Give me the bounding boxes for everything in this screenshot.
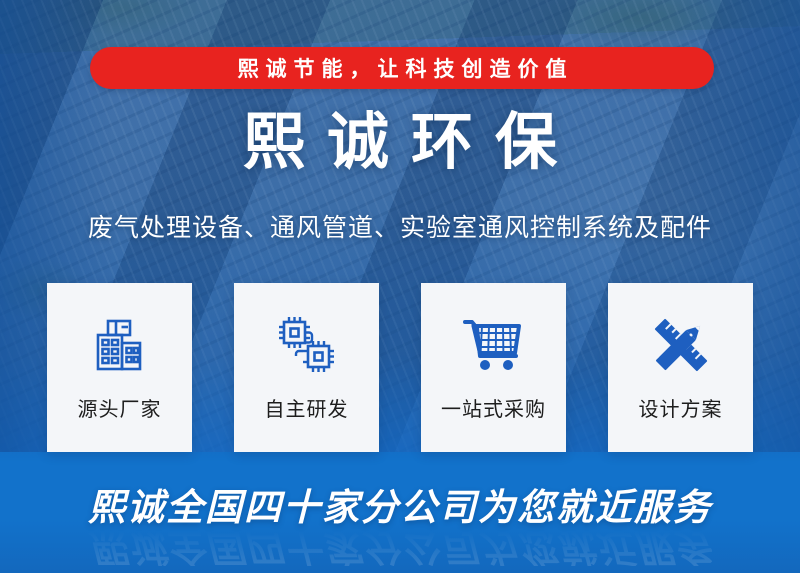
factory-building-icon	[88, 309, 152, 381]
feature-card-label: 一站式采购	[441, 393, 546, 422]
top-slogan-pill: 熙诚节能，让科技创造价值	[90, 47, 714, 89]
feature-card-label: 自主研发	[265, 393, 349, 422]
feature-card-one-stop-purchase[interactable]: 一站式采购	[421, 283, 566, 452]
feature-card-source-factory[interactable]: 源头厂家	[47, 283, 192, 452]
feature-card-design-plan[interactable]: 设计方案	[608, 283, 753, 452]
feature-card-label: 设计方案	[639, 393, 723, 422]
feature-card-label: 源头厂家	[78, 393, 162, 422]
page-title: 熙诚环保	[0, 112, 800, 174]
bottom-slogan-text: 熙诚全国四十家分公司为您就近服务	[88, 489, 712, 526]
feature-card-list: 源头厂家	[47, 283, 753, 452]
bottom-slogan-reflection: 熙诚全国四十家分公司为您就近服务	[88, 529, 712, 566]
bottom-slogan-block: 熙诚全国四十家分公司为您就近服务 熙诚全国四十家分公司为您就近服务	[0, 489, 800, 566]
ruler-pencil-icon	[648, 309, 714, 381]
page-subtitle: 废气处理设备、通风管道、实验室通风控制系统及配件	[0, 208, 800, 244]
top-slogan-text: 熙诚节能，让科技创造价值	[231, 53, 574, 83]
microchip-rnd-icon	[275, 309, 339, 381]
feature-card-self-rnd[interactable]: 自主研发	[234, 283, 379, 452]
promotional-banner: 熙诚节能，让科技创造价值 熙诚环保 废气处理设备、通风管道、实验室通风控制系统及…	[0, 0, 800, 573]
shopping-cart-icon	[460, 309, 528, 381]
